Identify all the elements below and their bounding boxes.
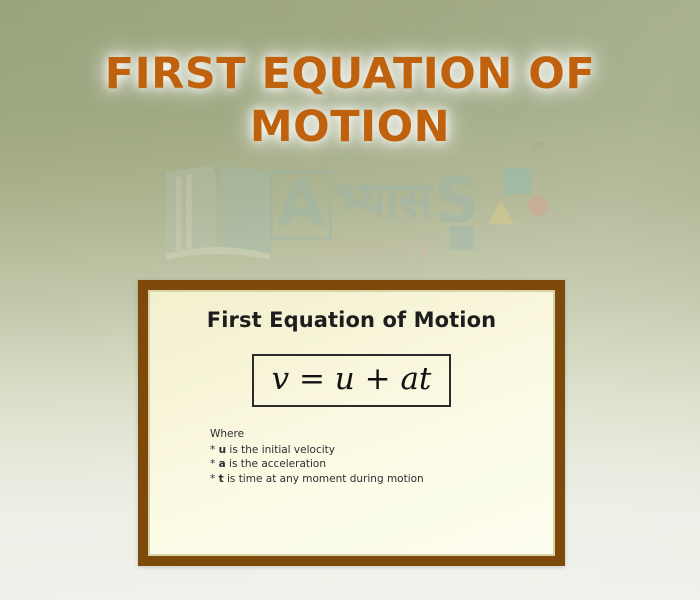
note-text: is the acceleration [229, 458, 326, 470]
watermark-letter-s: S [435, 170, 480, 232]
watermark-devanagari: भ्यास [336, 170, 433, 230]
triangle-yellow-icon [488, 200, 514, 224]
poster-canvas: FIRST EQUATION OF MOTION A भ्यास S Acade… [0, 0, 700, 600]
page-title-line-2: MOTION [0, 101, 700, 154]
watermark-letter-a: A [270, 170, 332, 240]
note-bullet: * [210, 473, 215, 485]
note-symbol: u [219, 444, 226, 456]
equation-container: v = u + at [150, 354, 553, 407]
watermark-logo: A भ्यास S Academy TM [150, 140, 570, 285]
book-icon [162, 162, 274, 262]
note-symbol: t [219, 473, 224, 485]
watermark-script-text: Academy [310, 232, 430, 262]
note-bullet: * [210, 458, 215, 470]
slide-frame: First Equation of Motion v = u + at Wher… [138, 280, 565, 566]
notes-heading: Where [210, 427, 553, 442]
note-text: is the initial velocity [229, 444, 335, 456]
square-teal-small-icon [450, 226, 474, 250]
equation-box: v = u + at [252, 354, 452, 407]
list-item: * a is the acceleration [210, 457, 553, 472]
notes-block: Where * u is the initial velocity * a is… [210, 427, 553, 486]
slide-content: First Equation of Motion v = u + at Wher… [148, 290, 555, 556]
note-symbol: a [219, 458, 226, 470]
watermark-wordmark: A भ्यास S [270, 170, 570, 260]
list-item: * u is the initial velocity [210, 443, 553, 458]
note-text: is time at any moment during motion [227, 473, 424, 485]
page-title: FIRST EQUATION OF MOTION [0, 48, 700, 154]
page-title-line-1: FIRST EQUATION OF [0, 48, 700, 101]
circle-coral-icon [528, 196, 548, 216]
list-item: * t is time at any moment during motion [210, 472, 553, 487]
slide-title: First Equation of Motion [150, 308, 553, 332]
note-bullet: * [210, 444, 215, 456]
square-teal-icon [504, 168, 530, 194]
